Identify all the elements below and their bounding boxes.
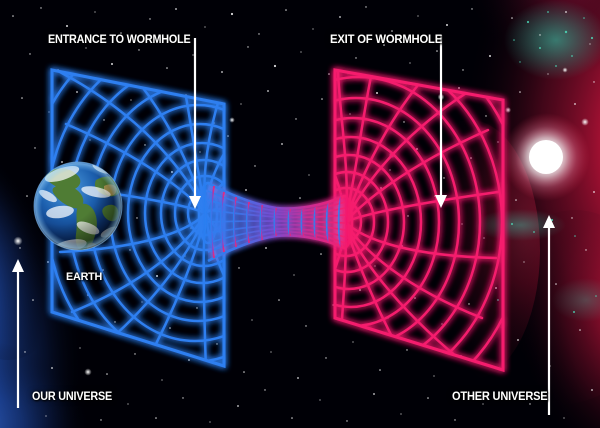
our-universe-pointer-arrow <box>12 259 24 408</box>
exit-pointer-arrow <box>435 35 447 208</box>
other-universe-pointer-arrow <box>543 215 555 415</box>
annotation-arrows <box>0 0 600 428</box>
entrance-pointer-arrow <box>189 38 201 209</box>
wormhole-diagram: ENTRANCE TO WORMHOLE EXIT OF WORMHOLE EA… <box>0 0 600 428</box>
